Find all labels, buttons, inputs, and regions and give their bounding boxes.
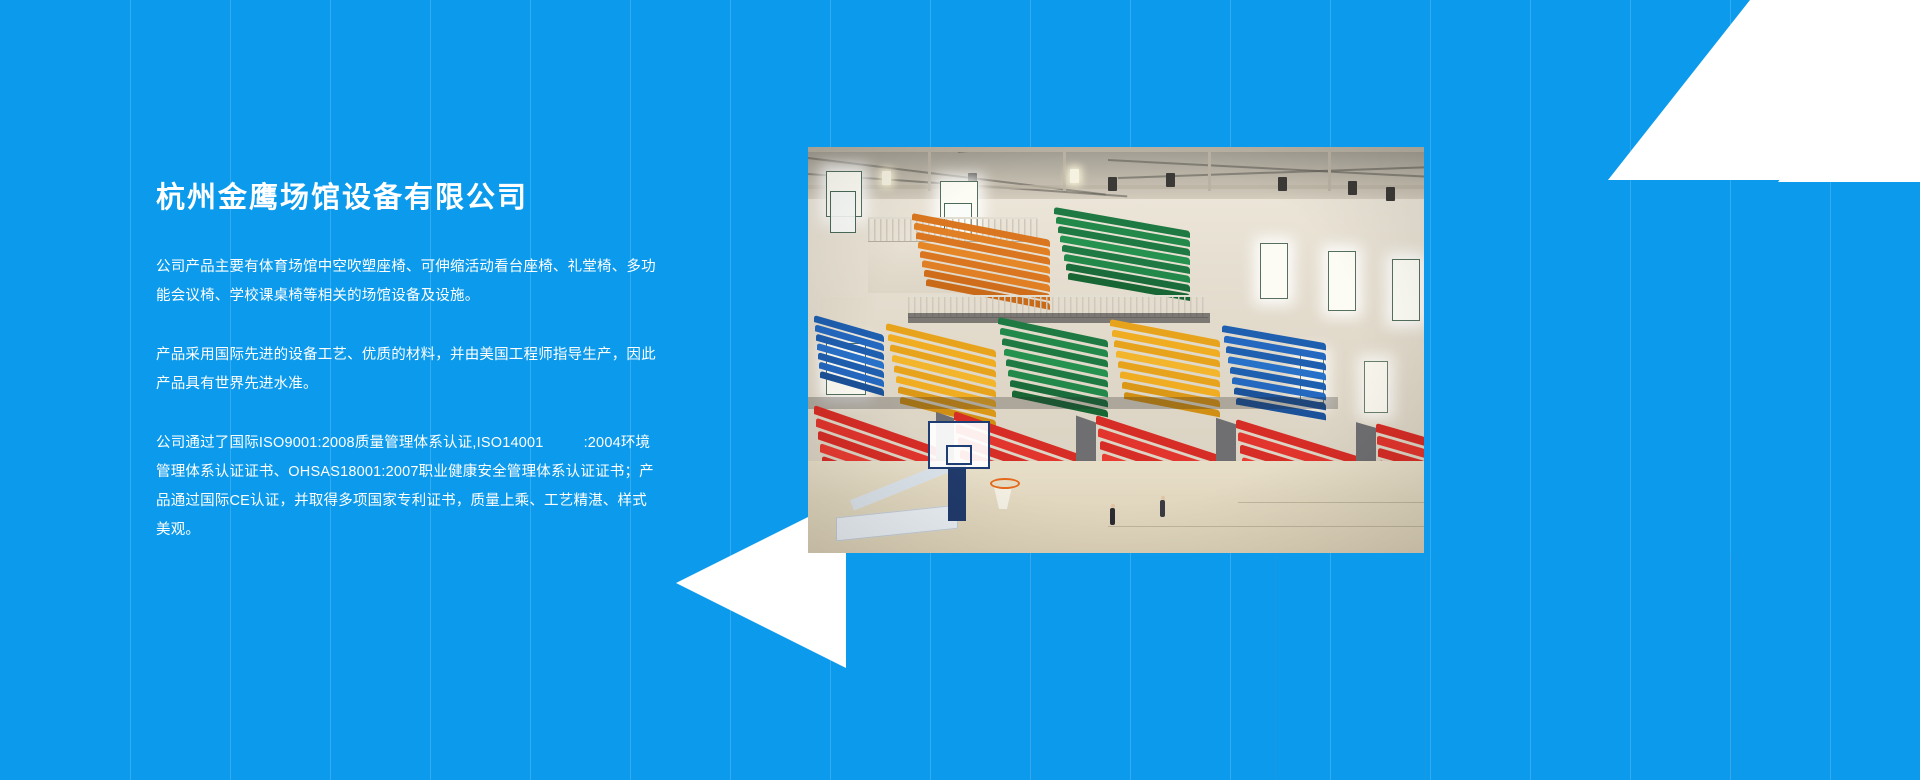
paragraph-products: 公司产品主要有体育场馆中空吹塑座椅、可伸缩活动看台座椅、礼堂椅、多功能会议椅、学… [156, 253, 656, 311]
page-title: 杭州金鹰场馆设备有限公司 [156, 180, 656, 215]
paragraph-quality: 产品采用国际先进的设备工艺、优质的材料，并由美国工程师指导生产，因此产品具有世界… [156, 341, 656, 399]
promo-banner: 杭州金鹰场馆设备有限公司 公司产品主要有体育场馆中空吹塑座椅、可伸缩活动看台座椅… [0, 0, 1920, 780]
background-gridlines-dark [0, 556, 1920, 780]
photo-vignette [808, 147, 1424, 553]
copy-block: 杭州金鹰场馆设备有限公司 公司产品主要有体育场馆中空吹塑座椅、可伸缩活动看台座椅… [156, 180, 656, 545]
gymnasium-photo [808, 147, 1424, 553]
paragraph-certifications: 公司通过了国际ISO9001:2008质量管理体系认证,ISO14001:200… [156, 429, 656, 545]
cert-text-part-1: 公司通过了国际ISO9001:2008质量管理体系认证,ISO14001 [156, 435, 544, 451]
